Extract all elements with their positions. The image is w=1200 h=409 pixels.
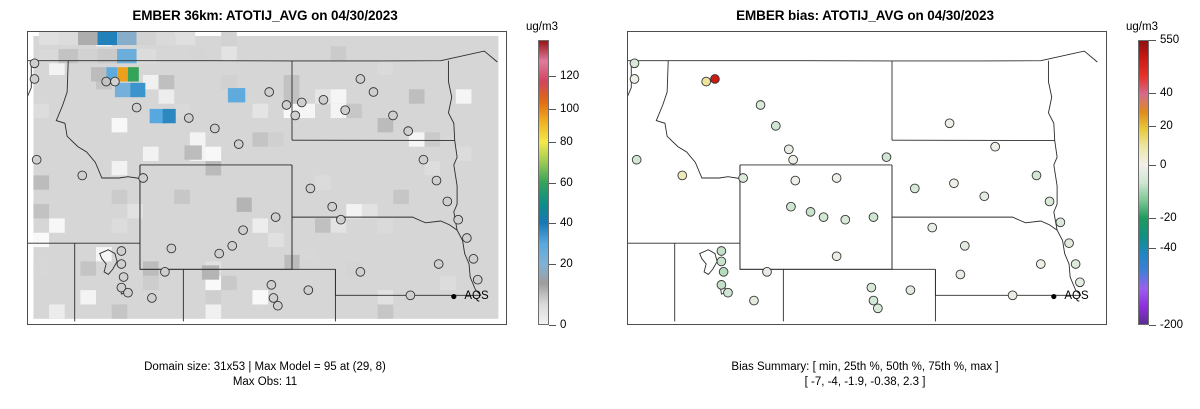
y-tick-mark (627, 258, 628, 259)
panel-title-bias: EMBER bias: ATOTIJ_AVG on 04/30/2023 (600, 8, 1130, 23)
colorbar-bias: ug/m3 -200-40-2002040550 (1138, 40, 1200, 330)
colorbar-model: ug/m3 020406080100120 (538, 40, 600, 330)
figure-canvas: EMBER 36km: ATOTIJ_AVG on 04/30/2023 AQS… (0, 0, 1200, 409)
x-tick-mark (1003, 324, 1004, 325)
x-tick-mark (829, 324, 830, 325)
x-tick-mark (229, 324, 230, 325)
bias-stations[interactable] (628, 32, 1106, 324)
plot-area-model[interactable]: AQS 39.541.543.545.547.549.5-115-113-111… (27, 31, 507, 325)
caption-bias-summary-values: [ -7, -4, -1.9, -0.38, 2.3 ] (600, 376, 1130, 388)
obs-stations-model[interactable] (28, 32, 506, 324)
x-tick-mark (698, 324, 699, 325)
colorbar-tick-mark (549, 183, 556, 184)
colorbar-tick-mark (1149, 40, 1156, 41)
x-tick-mark (1047, 324, 1048, 325)
x-tick-mark (447, 324, 448, 325)
caption-max-obs: Max Obs: 11 (0, 376, 530, 388)
colorbar-tick-mark (1149, 126, 1156, 127)
x-tick-mark (491, 324, 492, 325)
aqs-legend-label-model: AQS (464, 290, 488, 302)
map-clip-bias (628, 32, 1106, 324)
y-tick-mark (627, 205, 628, 206)
panel-bias: EMBER bias: ATOTIJ_AVG on 04/30/2023 AQS… (600, 0, 1200, 409)
colorbar-tick-mark (549, 223, 556, 224)
colorbar-tick-label-20: 20 (560, 258, 573, 270)
colorbar-tick-mark (549, 76, 556, 77)
colorbar-tick-label-0: 0 (1160, 159, 1166, 171)
x-tick-mark (1091, 324, 1092, 325)
colorbar-tick-mark (1149, 248, 1156, 249)
x-tick-mark (654, 324, 655, 325)
y-tick-mark (27, 153, 28, 154)
colorbar-tick-label-40: 40 (560, 217, 573, 229)
y-tick-mark (627, 310, 628, 311)
colorbar-unit-bias: ug/m3 (1126, 21, 1158, 33)
y-tick-mark (27, 310, 28, 311)
x-tick-mark (141, 324, 142, 325)
colorbar-tick-label-0: 0 (560, 319, 566, 331)
colorbar-tick-mark (549, 142, 556, 143)
x-tick-mark (872, 324, 873, 325)
colorbar-tick-label--200: -200 (1160, 319, 1183, 331)
colorbar-tick-mark (549, 109, 556, 110)
colorbar-gradient-model (538, 40, 549, 325)
colorbar-tick-mark (1149, 165, 1156, 166)
y-tick-mark (27, 48, 28, 49)
colorbar-tick-mark (549, 325, 556, 326)
colorbar-tick-label-20: 20 (1160, 120, 1173, 132)
colorbar-tick-label-40: 40 (1160, 87, 1173, 99)
colorbar-tick-mark (1149, 325, 1156, 326)
x-tick-mark (960, 324, 961, 325)
map-clip-model (28, 32, 506, 324)
y-tick-mark (627, 48, 628, 49)
colorbar-tick-mark (1149, 218, 1156, 219)
x-tick-mark (316, 324, 317, 325)
colorbar-tick-label-60: 60 (560, 177, 573, 189)
x-tick-mark (185, 324, 186, 325)
colorbar-tick-label--20: -20 (1160, 212, 1177, 224)
colorbar-tick-label-80: 80 (560, 136, 573, 148)
x-tick-mark (360, 324, 361, 325)
y-tick-mark (27, 205, 28, 206)
colorbar-tick-label--40: -40 (1160, 242, 1177, 254)
y-tick-mark (627, 153, 628, 154)
panel-model: EMBER 36km: ATOTIJ_AVG on 04/30/2023 AQS… (0, 0, 600, 409)
plot-area-bias[interactable]: AQS 39.541.543.545.547.549.5-115-113-111… (627, 31, 1107, 325)
x-tick-mark (54, 324, 55, 325)
colorbar-tick-label-550: 550 (1160, 34, 1179, 46)
x-tick-mark (785, 324, 786, 325)
colorbar-tick-mark (549, 264, 556, 265)
y-tick-mark (27, 100, 28, 101)
x-tick-mark (741, 324, 742, 325)
colorbar-unit-model: ug/m3 (526, 21, 558, 33)
colorbar-tick-mark (1149, 93, 1156, 94)
x-tick-mark (403, 324, 404, 325)
caption-bias-summary-header: Bias Summary: [ min, 25th %, 50th %, 75t… (600, 361, 1130, 373)
y-tick-mark (627, 100, 628, 101)
x-tick-mark (272, 324, 273, 325)
x-tick-mark (916, 324, 917, 325)
x-tick-mark (98, 324, 99, 325)
caption-domain-size: Domain size: 31x53 | Max Model = 95 at (… (0, 361, 530, 373)
panel-title-model: EMBER 36km: ATOTIJ_AVG on 04/30/2023 (0, 8, 530, 23)
colorbar-tick-label-120: 120 (560, 70, 579, 82)
colorbar-tick-label-100: 100 (560, 103, 579, 115)
colorbar-gradient-bias (1138, 40, 1149, 325)
aqs-legend-label-bias: AQS (1064, 290, 1088, 302)
y-tick-mark (27, 258, 28, 259)
